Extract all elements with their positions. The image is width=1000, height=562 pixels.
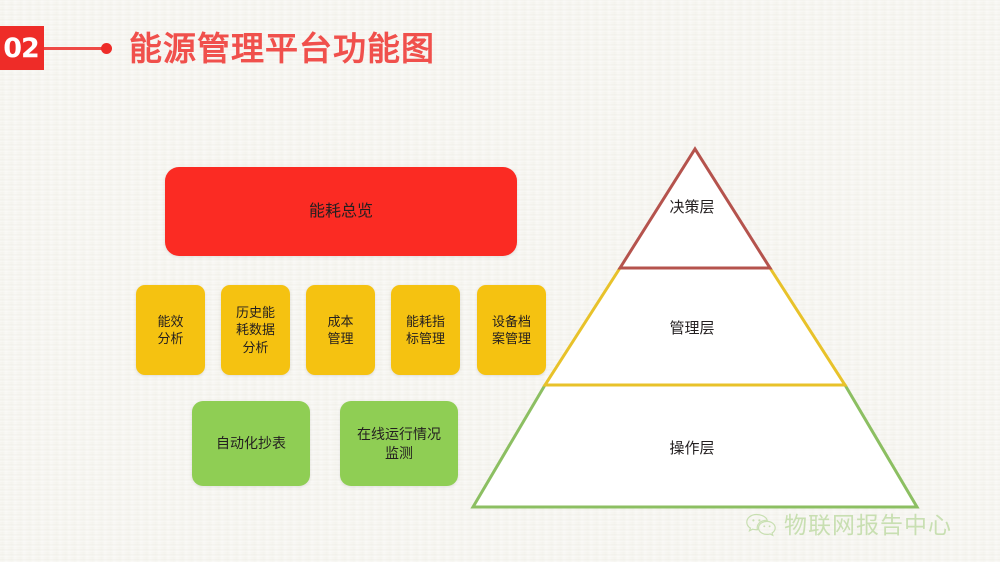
watermark-label: 物联网报告中心 [784, 514, 952, 537]
section-number-badge: 02 [0, 26, 44, 70]
function-box-green-0[interactable]: 自动化抄表 [192, 401, 310, 486]
header-bullet-dot-icon [101, 43, 112, 54]
function-box-yellow-3[interactable]: 能耗指标管理 [391, 285, 460, 375]
function-box-green-1-label: 在线运行情况监测 [357, 425, 441, 462]
section-number-label: 02 [3, 35, 39, 62]
watermark: 物联网报告中心 [745, 512, 952, 538]
header-connector-line [44, 47, 102, 50]
pyramid-label-management: 管理层 [622, 321, 762, 336]
function-box-yellow-1-label: 历史能耗数据分析 [236, 304, 275, 355]
slide-canvas: 02 能源管理平台功能图 能耗总览 能效分析历史能耗数据分析成本管理能耗指标管理… [0, 0, 1000, 562]
function-box-yellow-2-label: 成本管理 [327, 313, 353, 347]
pyramid-diagram: 决策层 管理层 操作层 [460, 138, 930, 520]
function-box-yellow-0[interactable]: 能效分析 [136, 285, 205, 375]
function-box-yellow-2[interactable]: 成本管理 [306, 285, 375, 375]
function-box-yellow-1[interactable]: 历史能耗数据分析 [221, 285, 290, 375]
wechat-icon [745, 512, 777, 538]
slide-header: 02 能源管理平台功能图 [0, 22, 435, 74]
pyramid-label-decision: 决策层 [622, 200, 762, 215]
function-box-yellow-0-label: 能效分析 [157, 313, 183, 347]
page-title: 能源管理平台功能图 [129, 32, 435, 65]
pyramid-label-operation: 操作层 [622, 441, 762, 456]
function-box-overview-label: 能耗总览 [309, 201, 373, 222]
function-box-green-0-label: 自动化抄表 [216, 434, 286, 452]
function-box-yellow-3-label: 能耗指标管理 [406, 313, 445, 347]
function-box-green-1[interactable]: 在线运行情况监测 [340, 401, 458, 486]
